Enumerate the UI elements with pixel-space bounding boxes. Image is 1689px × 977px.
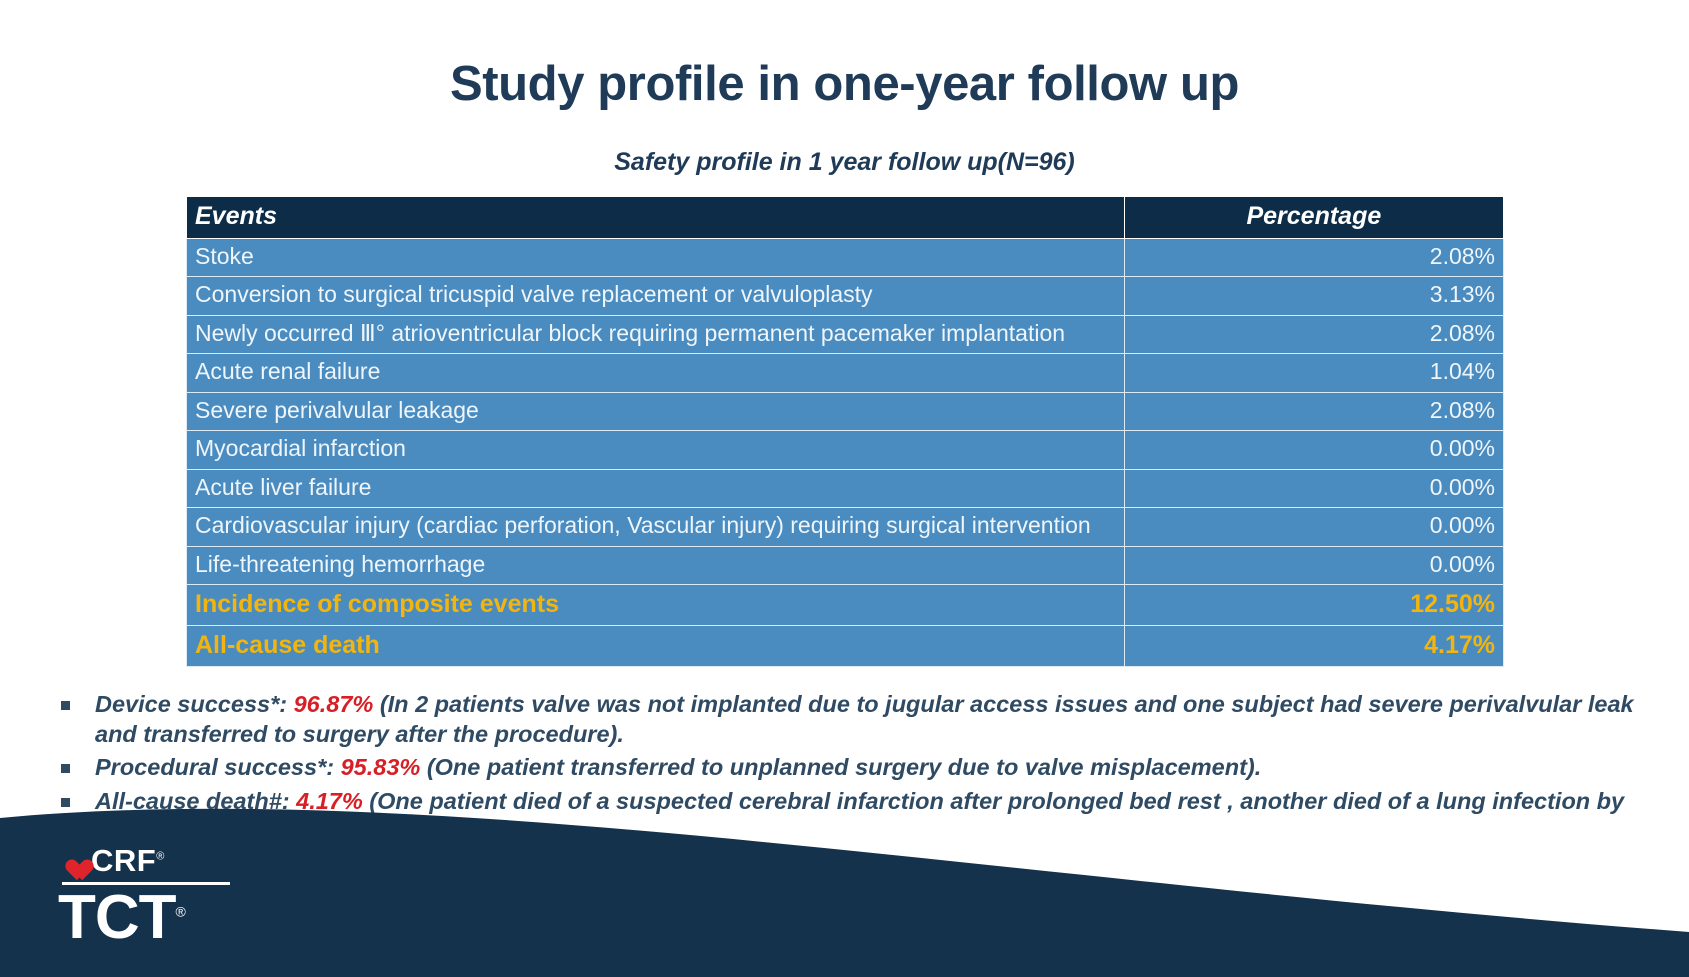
table-row: Conversion to surgical tricuspid valve r… [187, 277, 1504, 315]
cell-percentage: 0.00% [1124, 469, 1503, 507]
table-row: Acute liver failure0.00% [187, 469, 1504, 507]
table-row: Myocardial infarction0.00% [187, 431, 1504, 469]
table-header-row: Events Percentage [187, 197, 1504, 239]
crf-logo-row: CRF® [60, 845, 250, 876]
column-header-percentage: Percentage [1124, 197, 1503, 239]
note-item: Device success*: 96.87% (In 2 patients v… [55, 690, 1665, 749]
cell-event: Stoke [187, 239, 1125, 277]
page-title: Study profile in one-year follow up [0, 58, 1689, 112]
cell-event: Incidence of composite events [187, 584, 1125, 625]
cell-percentage: 3.13% [1124, 277, 1503, 315]
cell-event: Life-threatening hemorrhage [187, 546, 1125, 584]
bullet-square-icon [61, 701, 70, 710]
table-row: All-cause death4.17% [187, 625, 1504, 666]
table-row: Stoke2.08% [187, 239, 1504, 277]
cell-percentage: 2.08% [1124, 392, 1503, 430]
cell-event: Severe perivalvular leakage [187, 392, 1125, 430]
note-value: 96.87% [294, 691, 374, 717]
note-item: All-cause death#: 4.17% (One patient die… [55, 787, 1665, 846]
note-detail: (One patient transferred to unplanned su… [427, 754, 1261, 780]
cell-event: Newly occurred Ⅲ° atrioventricular block… [187, 315, 1125, 353]
table-row: Newly occurred Ⅲ° atrioventricular block… [187, 315, 1504, 353]
cell-percentage: 2.08% [1124, 315, 1503, 353]
bullet-square-icon [61, 798, 70, 807]
crf-wordmark: CRF® [91, 845, 165, 876]
safety-profile-table: Events Percentage Stoke2.08%Conversion t… [186, 196, 1504, 667]
cell-percentage: 2.08% [1124, 239, 1503, 277]
cell-percentage: 1.04% [1124, 354, 1503, 392]
heart-icon [60, 849, 86, 873]
cell-event: Acute renal failure [187, 354, 1125, 392]
cell-event: All-cause death [187, 625, 1125, 666]
tct-registered-mark: ® [176, 903, 185, 919]
crf-tct-logo: CRF® TCT® [40, 845, 250, 949]
table-head: Events Percentage [187, 197, 1504, 239]
crf-registered-mark: ® [156, 851, 165, 863]
notes-list: Device success*: 96.87% (In 2 patients v… [55, 690, 1665, 850]
note-value: 95.83% [341, 754, 421, 780]
cell-percentage: 12.50% [1124, 584, 1503, 625]
cell-event: Acute liver failure [187, 469, 1125, 507]
cell-event: Conversion to surgical tricuspid valve r… [187, 277, 1125, 315]
slide-root: Study profile in one-year follow up Safe… [0, 0, 1689, 977]
cell-percentage: 0.00% [1124, 431, 1503, 469]
table-row: Cardiovascular injury (cardiac perforati… [187, 508, 1504, 546]
page-subtitle: Safety profile in 1 year follow up(N=96) [0, 148, 1689, 177]
safety-profile-table-wrap: Events Percentage Stoke2.08%Conversion t… [186, 196, 1504, 667]
table-row: Acute renal failure1.04% [187, 354, 1504, 392]
tct-wordmark: TCT® [58, 887, 250, 949]
note-label: Device success*: [95, 691, 287, 717]
table-row: Incidence of composite events12.50% [187, 584, 1504, 625]
table-row: Life-threatening hemorrhage0.00% [187, 546, 1504, 584]
note-label: All-cause death#: [95, 788, 290, 814]
cell-event: Myocardial infarction [187, 431, 1125, 469]
note-item: Procedural success*: 95.83% (One patient… [55, 753, 1665, 783]
column-header-events: Events [187, 197, 1125, 239]
cell-percentage: 0.00% [1124, 508, 1503, 546]
cell-percentage: 4.17% [1124, 625, 1503, 666]
cell-event: Cardiovascular injury (cardiac perforati… [187, 508, 1125, 546]
table-row: Severe perivalvular leakage2.08% [187, 392, 1504, 430]
cell-percentage: 0.00% [1124, 546, 1503, 584]
note-label: Procedural success*: [95, 754, 334, 780]
note-value: 4.17% [296, 788, 363, 814]
table-body: Stoke2.08%Conversion to surgical tricusp… [187, 239, 1504, 667]
bullet-square-icon [61, 764, 70, 773]
